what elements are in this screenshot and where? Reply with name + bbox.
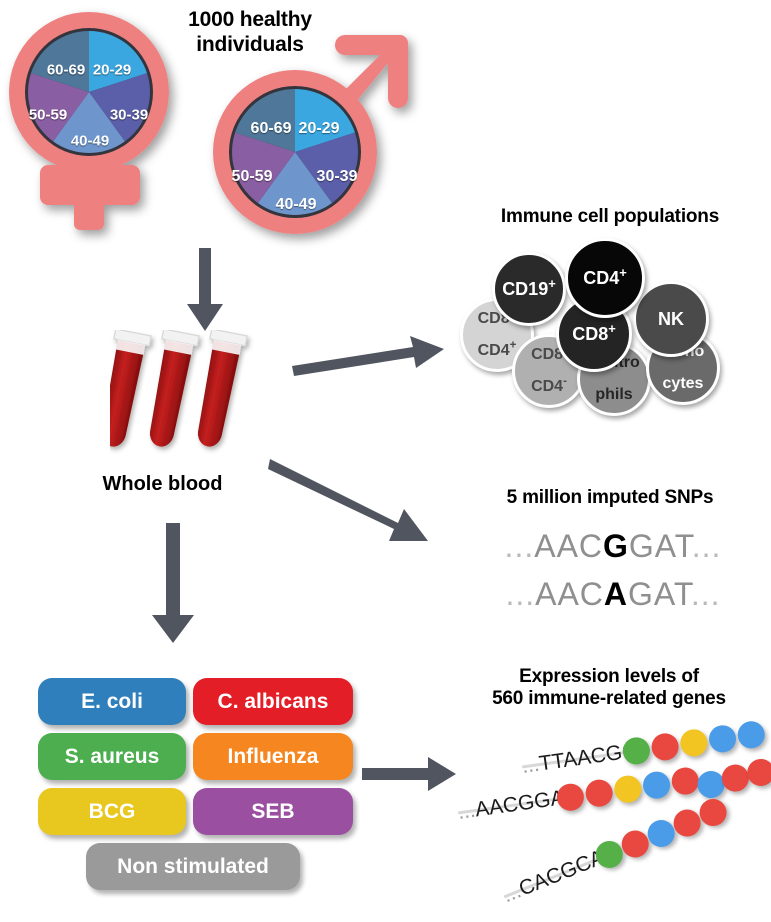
stimulus-label: SEB <box>251 800 294 824</box>
stimuli-panel: E. coli C. albicans S. aureus Influenza … <box>38 678 348 893</box>
cell-label-line2: phils <box>588 387 640 403</box>
arrow-blood-to-immune <box>292 330 452 380</box>
male-gender-symbol: 20-29 30-39 40-49 50-59 60-69 <box>205 22 420 247</box>
stimulus-s-aureus[interactable]: S. aureus <box>38 733 186 780</box>
immune-cell-nk[interactable]: NK <box>633 281 709 357</box>
arrow-blood-to-stimuli <box>143 523 203 645</box>
cell-label: CD8+ <box>572 325 616 343</box>
snp-row: ...AACAGAT... <box>478 576 748 613</box>
expression-bead <box>584 778 614 808</box>
figure-canvas: 1000 healthy individuals <box>0 0 771 922</box>
immune-cell-cd4pos[interactable]: CD4+ <box>565 238 645 318</box>
stimulus-c-albicans[interactable]: C. albicans <box>193 678 353 725</box>
expression-title-line1: Expression levels of <box>450 666 768 688</box>
immune-section-title: Immune cell populations <box>455 206 765 228</box>
snp-prefix: ... <box>505 576 535 612</box>
expression-bead <box>613 774 643 804</box>
blood-tubes-svg <box>110 330 270 470</box>
blood-tube <box>142 330 199 450</box>
snp-suffix: ... <box>691 576 721 612</box>
snp-left: AAC <box>534 528 603 564</box>
cell-label-line2: CD4+ <box>478 343 517 359</box>
stimulus-seb[interactable]: SEB <box>193 788 353 835</box>
expression-bead <box>670 766 700 796</box>
expression-section-title: Expression levels of 560 immune-related … <box>450 666 768 711</box>
snp-row: ...AACGGAT... <box>478 528 748 565</box>
cell-label: NK <box>658 310 684 328</box>
expression-strands: ...TTAACGG ...AACGGAT <box>452 740 770 918</box>
snp-variant: A <box>604 576 628 612</box>
female-age-pie <box>28 31 150 153</box>
blood-tubes <box>110 330 270 470</box>
male-age-pie <box>232 89 358 215</box>
immune-cell-cd19pos[interactable]: CD19+ <box>492 252 566 326</box>
cell-label: CD19+ <box>502 280 556 298</box>
cell-label: CD4+ <box>583 269 627 287</box>
whole-blood-label: Whole blood <box>80 473 245 496</box>
dna-sequence: ...TTAACGG <box>520 739 640 779</box>
immune-cell-cluster: CD8+ CD4+ CD8- CD4- Neutro phils Mono cy… <box>460 236 760 416</box>
stimulus-label: BCG <box>89 800 136 824</box>
stimulus-label: E. coli <box>81 690 143 714</box>
arrow-stimuli-to-expression <box>362 752 458 796</box>
male-symbol-svg <box>205 22 420 247</box>
stimulus-bcg[interactable]: BCG <box>38 788 186 835</box>
stimulus-label: C. albicans <box>218 690 329 714</box>
snp-prefix: ... <box>505 528 535 564</box>
expression-title-line2: 560 immune-related genes <box>450 688 768 710</box>
stimulus-label: Influenza <box>227 745 318 769</box>
snp-left: AAC <box>535 576 604 612</box>
stimulus-label: Non stimulated <box>117 855 269 879</box>
snps-section-title: 5 million imputed SNPs <box>455 487 765 509</box>
stimulus-label: S. aureus <box>65 745 160 769</box>
expression-bead <box>650 732 680 762</box>
cell-label-line2: CD4- <box>531 379 567 395</box>
arrow-cohort-to-blood <box>175 248 235 333</box>
expression-bead <box>736 720 766 750</box>
blood-tube <box>110 330 151 450</box>
stimulus-non-stimulated[interactable]: Non stimulated <box>86 843 300 890</box>
female-symbol-svg <box>2 10 192 245</box>
expression-bead <box>641 770 671 800</box>
snp-variant: G <box>603 528 629 564</box>
stimulus-e-coli[interactable]: E. coli <box>38 678 186 725</box>
snp-sequences: ...AACGGAT... ...AACAGAT... <box>478 528 748 623</box>
snp-right: GAT <box>628 576 691 612</box>
expression-bead <box>707 724 737 754</box>
snp-suffix: ... <box>692 528 722 564</box>
female-gender-symbol: 20-29 30-39 40-49 50-59 60-69 <box>2 10 192 245</box>
expression-bead <box>746 758 771 788</box>
cell-label-line2: cytes <box>662 376 705 392</box>
arrow-blood-to-snps <box>268 455 448 555</box>
expression-bead <box>679 728 709 758</box>
stimulus-influenza[interactable]: Influenza <box>193 733 353 780</box>
blood-tube <box>190 330 247 450</box>
snp-right: GAT <box>629 528 692 564</box>
